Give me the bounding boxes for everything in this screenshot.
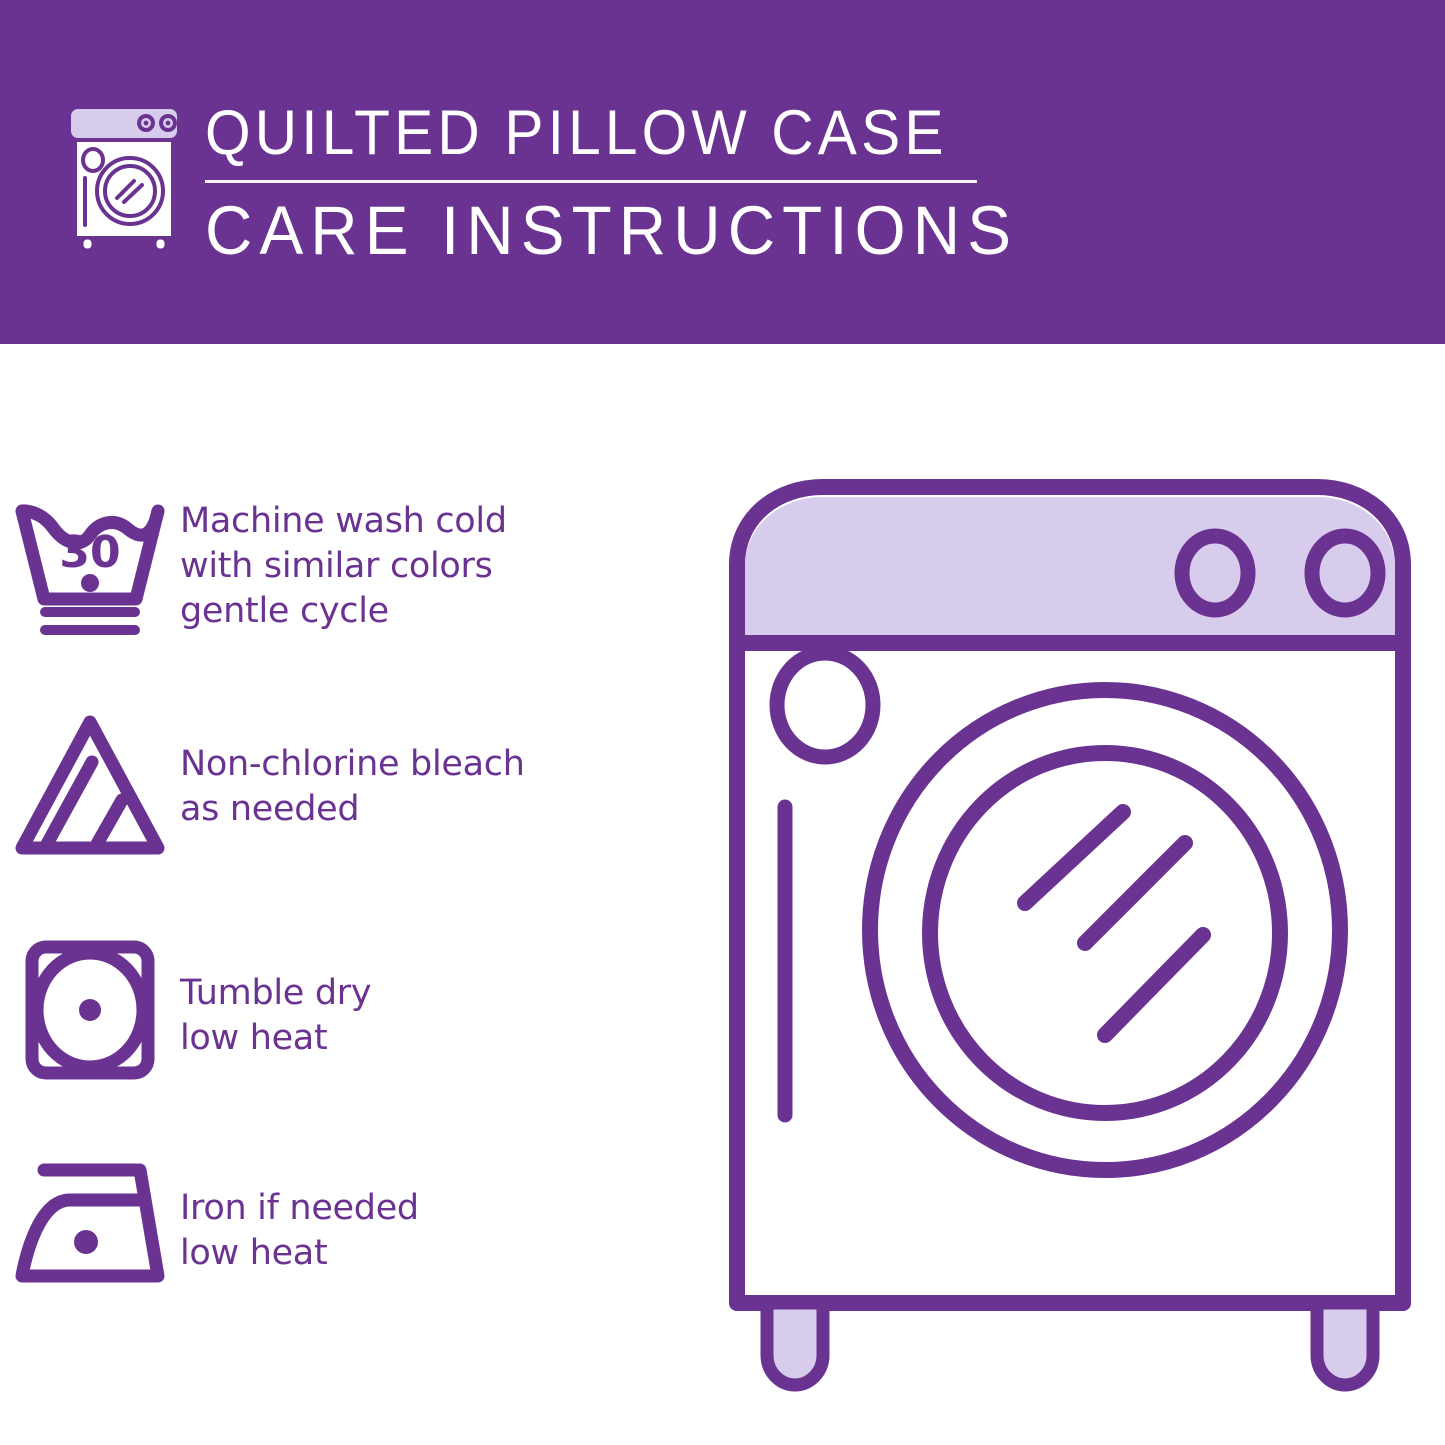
header-text-block: QUILTED PILLOW CASE CARE INSTRUCTIONS xyxy=(205,95,1205,271)
title-divider xyxy=(205,180,977,183)
page-subtitle: CARE INSTRUCTIONS xyxy=(205,191,1155,271)
care-item-label: Iron if needed low heat xyxy=(180,1144,419,1276)
care-item-label: Machine wash cold with similar colors ge… xyxy=(180,489,507,634)
washing-machine-icon xyxy=(60,103,188,251)
care-item: Iron if needed low heat xyxy=(0,1144,700,1300)
wash-tub-30-icon: 30 xyxy=(0,489,180,645)
care-item-label: Tumble dry low heat xyxy=(180,929,371,1061)
bleach-triangle-icon xyxy=(0,704,180,860)
care-item: Non-chlorine bleach as needed xyxy=(0,704,700,860)
page-title: QUILTED PILLOW CASE xyxy=(205,95,1135,171)
tumble-dry-low-icon xyxy=(0,929,180,1085)
iron-low-icon xyxy=(0,1144,180,1300)
care-instruction-list: 30 Machine wash cold with similar colors… xyxy=(0,344,700,1445)
svg-text:30: 30 xyxy=(59,527,120,578)
care-item: 30 Machine wash cold with similar colors… xyxy=(0,489,700,645)
care-item-label: Non-chlorine bleach as needed xyxy=(180,704,525,832)
care-item: Tumble dry low heat xyxy=(0,929,700,1085)
washing-machine-illustration xyxy=(705,455,1435,1400)
care-instructions-page: QUILTED PILLOW CASE CARE INSTRUCTIONS 30… xyxy=(0,0,1445,1445)
header-banner: QUILTED PILLOW CASE CARE INSTRUCTIONS xyxy=(0,0,1445,344)
